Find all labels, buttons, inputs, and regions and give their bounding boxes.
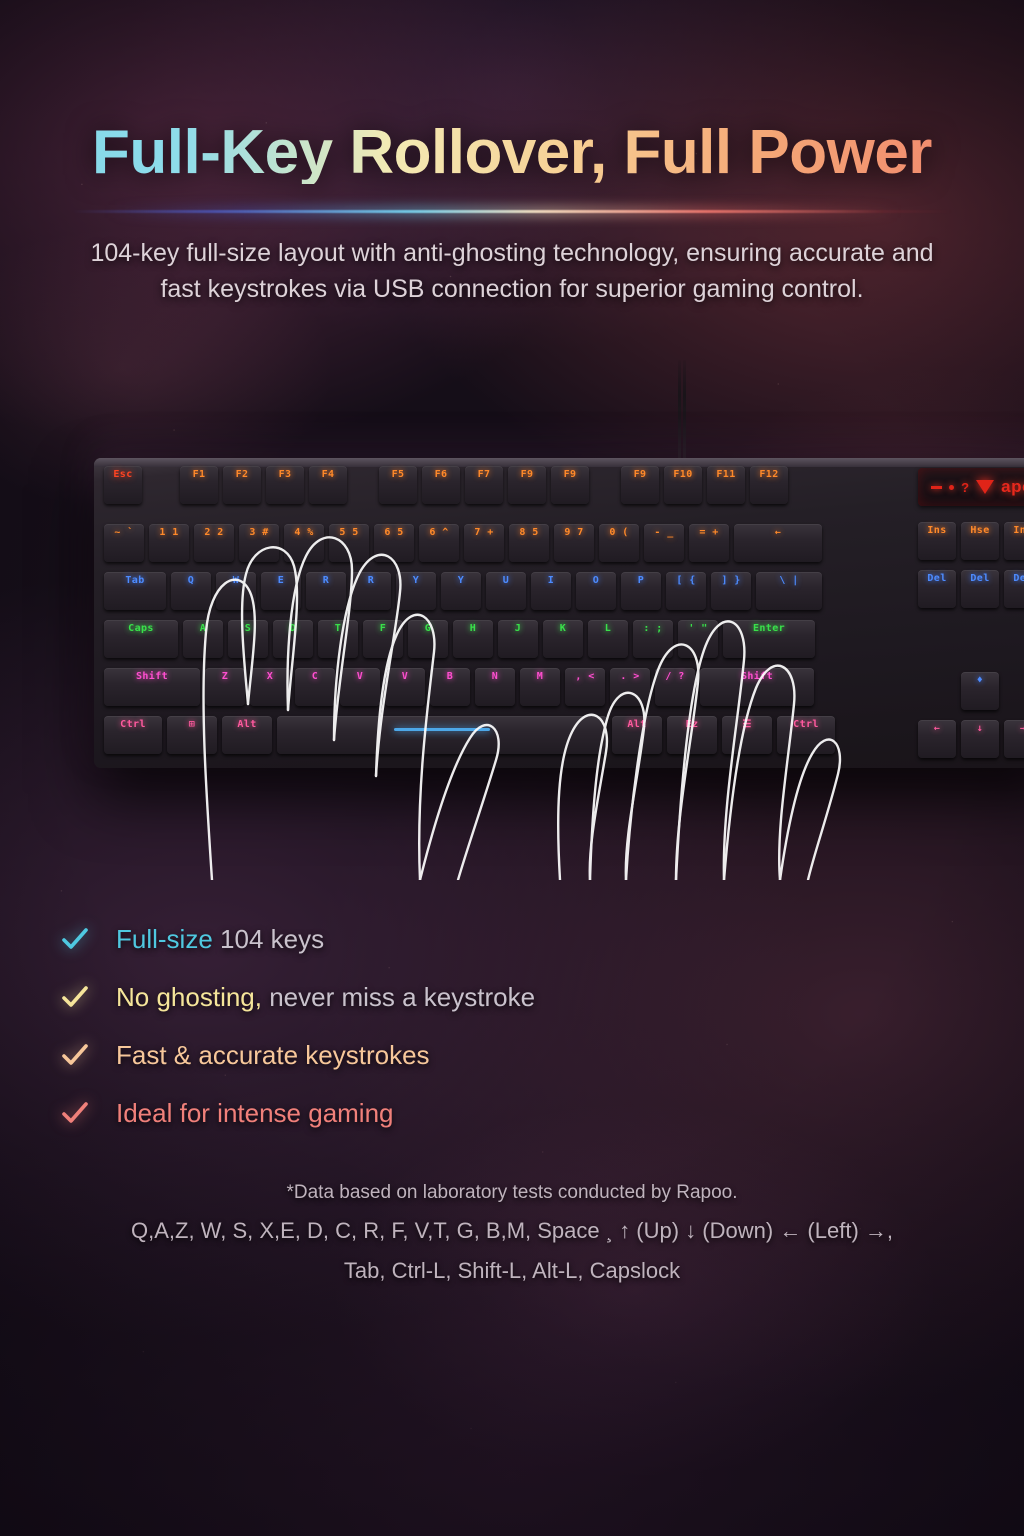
keyboard-key-c[interactable]: C — [295, 668, 335, 706]
key-label: , < — [575, 672, 594, 682]
keyboard-key-[interactable]: ← — [918, 720, 956, 758]
key-label: F7 — [478, 470, 491, 480]
key-label: 6 5 — [384, 528, 403, 538]
key-label: Del — [927, 574, 946, 584]
key-label: Z — [222, 672, 228, 682]
keyboard-key-2-2[interactable]: 2 2 — [194, 524, 234, 562]
key-label: Ctrl — [120, 720, 146, 730]
keyboard-key-f10[interactable]: F10 — [664, 466, 702, 504]
key-label: F2 — [236, 470, 249, 480]
keyboard-key-tab[interactable]: Tab — [104, 572, 166, 610]
keyboard-key-k[interactable]: K — [543, 620, 583, 658]
key-label: Ez — [686, 720, 699, 730]
key-label: K — [560, 624, 566, 634]
key-label: 7 + — [474, 528, 493, 538]
keyboard-key-y[interactable]: Y — [441, 572, 481, 610]
logo-dash-icon — [931, 486, 942, 489]
key-label: F10 — [673, 470, 692, 480]
key-label: ☰ — [742, 720, 751, 730]
key-label: [ { — [676, 576, 695, 586]
header-section: Full-Key Rollover, Full Power 104-key fu… — [0, 0, 1024, 308]
keyboard-home-row: CapsASDTFGHJKL: ;' "Enter — [104, 620, 1024, 666]
key-label: O — [593, 576, 599, 586]
key-label: A — [200, 624, 206, 634]
keyboard-key-f7[interactable]: F7 — [465, 466, 503, 504]
arrow-row-main: ←↓→ — [918, 720, 1024, 766]
keyboard-key-u[interactable]: U — [486, 572, 526, 610]
logo-glyph: ? — [961, 480, 969, 495]
feature-item: Ideal for intense gaming — [60, 1084, 820, 1142]
keyboard-key-o[interactable]: O — [576, 572, 616, 610]
keyboard-key-f2[interactable]: F2 — [223, 466, 261, 504]
keyboard-key-s[interactable]: S — [228, 620, 268, 658]
key-label: Ctrl — [793, 720, 819, 730]
keyboard-key-0[interactable]: 0 ( — [599, 524, 639, 562]
keyboard-key-l[interactable]: L — [588, 620, 628, 658]
keyboard-key-1-1[interactable]: 1 1 — [149, 524, 189, 562]
feature-label-emphasis: Full-size — [116, 924, 213, 954]
key-label: R — [323, 576, 329, 586]
keyboard-key-[interactable]: ' " — [678, 620, 718, 658]
footnote-line-1: *Data based on laboratory tests conducte… — [0, 1182, 1024, 1204]
check-icon — [60, 1040, 90, 1070]
keyboard-key-t[interactable]: T — [318, 620, 358, 658]
keyboard-key-[interactable]: ← — [734, 524, 822, 562]
keyboard-qwerty-row: TabQWERRYYUIOP[ {] }\ | — [104, 572, 1024, 618]
keyboard-key-f[interactable]: F — [363, 620, 403, 658]
key-label: F4 — [322, 470, 335, 480]
key-label: ⊞ — [189, 720, 195, 730]
key-label: V — [402, 672, 408, 682]
keyboard-key-6[interactable]: 6 ^ — [419, 524, 459, 562]
key-label: ~ ` — [114, 528, 133, 538]
key-label: F12 — [759, 470, 778, 480]
key-label: U — [503, 576, 509, 586]
key-label: 4 % — [294, 528, 313, 538]
keyboard-key-b[interactable]: B — [430, 668, 470, 706]
key-label: Shift — [136, 672, 168, 682]
footnote-line-2: Q,A,Z, W, S, X,E, D, C, R, F, V,T, G, B,… — [0, 1218, 1024, 1244]
keyboard-key-enter[interactable]: Enter — [723, 620, 815, 658]
keyboard-key-r[interactable]: R — [306, 572, 346, 610]
keyboard-key-caps[interactable]: Caps — [104, 620, 178, 658]
key-label: Hse — [970, 526, 989, 536]
keyboard-key-ins[interactable]: Ins — [918, 522, 956, 560]
keyboard-key-f1[interactable]: F1 — [180, 466, 218, 504]
keyboard-key-v[interactable]: V — [385, 668, 425, 706]
page-title: Full-Key Rollover, Full Power — [0, 122, 1024, 184]
key-label: T — [335, 624, 341, 634]
key-label: L — [605, 624, 611, 634]
page-subtitle: 104-key full-size layout with anti-ghost… — [72, 235, 952, 308]
keyboard-key-9-7[interactable]: 9 7 — [554, 524, 594, 562]
keyboard-key-[interactable]: ~ ` — [104, 524, 144, 562]
key-label: M — [537, 672, 543, 682]
key-label: S — [245, 624, 251, 634]
key-label: . > — [620, 672, 639, 682]
key-label: F1 — [193, 470, 206, 480]
key-label: 5 5 — [339, 528, 358, 538]
keyboard-key-r[interactable]: R — [351, 572, 391, 610]
key-label: ← — [934, 724, 940, 734]
key-label: P — [638, 576, 644, 586]
key-label: F — [380, 624, 386, 634]
keyboard-key-g[interactable]: G — [408, 620, 448, 658]
key-label: Del — [1013, 574, 1024, 584]
keyboard-key-alt[interactable]: Alt — [612, 716, 662, 754]
key-label: Y — [458, 576, 464, 586]
key-label: Del — [970, 574, 989, 584]
key-label: Y — [413, 576, 419, 586]
keyboard-key-n[interactable]: N — [475, 668, 515, 706]
keyboard-key-x[interactable]: X — [250, 668, 290, 706]
key-label: I — [548, 576, 554, 586]
nav-row-insert: InsHseIns — [918, 522, 1024, 568]
glow-divider — [72, 210, 952, 213]
keyboard-key-7[interactable]: 7 + — [464, 524, 504, 562]
keyboard-key-[interactable]: [ { — [666, 572, 706, 610]
keyboard-key-f4[interactable]: F4 — [309, 466, 347, 504]
keyboard-key-alt[interactable]: Alt — [222, 716, 272, 754]
key-label: F6 — [435, 470, 448, 480]
keyboard-bottom-row: Ctrl⊞AltAltEz☰Ctrl — [104, 716, 1024, 762]
keyboard-section: EscF1F2F3F4F5F6F7F9F9F9F10F11F12 ~ `1 12… — [0, 360, 1024, 880]
keyboard-key-f11[interactable]: F11 — [707, 466, 745, 504]
navigation-cluster: InsHseIns DelDelDel — [918, 522, 1024, 618]
key-label: N — [492, 672, 498, 682]
key-label: 9 7 — [564, 528, 583, 538]
check-icon — [60, 924, 90, 954]
keyboard-key-d[interactable]: D — [273, 620, 313, 658]
keyboard-key-shift[interactable]: Shift — [700, 668, 814, 706]
key-label: ] } — [721, 576, 740, 586]
keyboard-key-f9[interactable]: F9 — [621, 466, 659, 504]
footnote-line-3: Tab, Ctrl-L, Shift-L, Alt-L, Capslock — [0, 1258, 1024, 1284]
feature-item: Full-size 104 keys — [60, 910, 820, 968]
keyboard-key-q[interactable]: Q — [171, 572, 211, 610]
keyboard-key-y[interactable]: Y — [396, 572, 436, 610]
brand-logo-panel: ? apo — [918, 468, 1024, 506]
key-label: 0 ( — [609, 528, 628, 538]
key-label: 8 5 — [519, 528, 538, 538]
keyboard-key-f6[interactable]: F6 — [422, 466, 460, 504]
keyboard-key-ins[interactable]: Ins — [1004, 522, 1024, 560]
keyboard-key-5-5[interactable]: 5 5 — [329, 524, 369, 562]
keyboard-key-ctrl[interactable]: Ctrl — [777, 716, 835, 754]
spacebar-indicator-line — [394, 728, 490, 731]
keyboard-key-m[interactable]: M — [520, 668, 560, 706]
key-label: = + — [699, 528, 718, 538]
key-label: F9 — [521, 470, 534, 480]
key-label: Alt — [237, 720, 256, 730]
key-backlight-glow — [274, 713, 610, 760]
key-label: 2 2 — [204, 528, 223, 538]
keyboard-key-[interactable]: ☰ — [722, 716, 772, 754]
keyboard-key-w[interactable]: W — [216, 572, 256, 610]
keyboard-key-del[interactable]: Del — [918, 570, 956, 608]
feature-label-emphasis: No ghosting, — [116, 982, 262, 1012]
keyboard-key-h[interactable]: H — [453, 620, 493, 658]
key-label: : ; — [643, 624, 662, 634]
keyboard-key-f5[interactable]: F5 — [379, 466, 417, 504]
keyboard-key-[interactable]: - _ — [644, 524, 684, 562]
key-label: ← — [775, 528, 781, 538]
key-label: 1 1 — [159, 528, 178, 538]
feature-label: Fast & accurate keystrokes — [116, 1040, 430, 1071]
key-label: / ? — [665, 672, 684, 682]
keyboard-key-j[interactable]: J — [498, 620, 538, 658]
keyboard-key-[interactable]: ⊞ — [167, 716, 217, 754]
keyboard-key-[interactable]: ♦ — [961, 672, 999, 710]
keyboard-key-[interactable]: . > — [610, 668, 650, 706]
usb-cable — [676, 360, 690, 460]
keyboard-key-space[interactable] — [277, 716, 607, 754]
keyboard-number-row: ~ `1 12 23 #4 %5 56 56 ^7 +8 59 70 (- _=… — [104, 524, 1024, 570]
keyboard-key-4[interactable]: 4 % — [284, 524, 324, 562]
logo-dot-icon — [949, 485, 954, 490]
keyboard-key-[interactable]: / ? — [655, 668, 695, 706]
keyboard-key-[interactable]: → — [1004, 720, 1024, 758]
keyboard-key-f3[interactable]: F3 — [266, 466, 304, 504]
key-label: Enter — [753, 624, 785, 634]
keyboard-shift-row: ShiftZXCVVBNM, <. >/ ?Shift — [104, 668, 1024, 714]
key-label: D — [290, 624, 296, 634]
key-label: R — [368, 576, 374, 586]
key-label: 3 # — [249, 528, 268, 538]
key-label: Q — [188, 576, 194, 586]
feature-label: No ghosting, never miss a keystroke — [116, 982, 535, 1013]
key-label: Shift — [741, 672, 773, 682]
keyboard-key-del[interactable]: Del — [961, 570, 999, 608]
arrow-cluster: ♦ ←↓→ — [918, 672, 1024, 768]
keyboard-key-esc[interactable]: Esc — [104, 466, 142, 504]
keyboard-key-[interactable]: , < — [565, 668, 605, 706]
keyboard-key-hse[interactable]: Hse — [961, 522, 999, 560]
keyboard-key-a[interactable]: A — [183, 620, 223, 658]
keyboard-key-ctrl[interactable]: Ctrl — [104, 716, 162, 754]
mechanical-keyboard: EscF1F2F3F4F5F6F7F9F9F9F10F11F12 ~ `1 12… — [94, 458, 1024, 768]
key-label: Tab — [125, 576, 144, 586]
keyboard-key-shift[interactable]: Shift — [104, 668, 200, 706]
key-label: C — [312, 672, 318, 682]
nav-row-delete: DelDelDel — [918, 570, 1024, 616]
feature-label: Full-size 104 keys — [116, 924, 324, 955]
key-label: F9 — [564, 470, 577, 480]
key-label: E — [278, 576, 284, 586]
key-label: F9 — [634, 470, 647, 480]
key-label: J — [515, 624, 521, 634]
keyboard-key-f9[interactable]: F9 — [508, 466, 546, 504]
check-icon — [60, 1098, 90, 1128]
keyboard-key-6-5[interactable]: 6 5 — [374, 524, 414, 562]
feature-item: No ghosting, never miss a keystroke — [60, 968, 820, 1026]
key-label: → — [1020, 724, 1024, 734]
keyboard-key-[interactable]: ] } — [711, 572, 751, 610]
key-label: \ | — [779, 576, 798, 586]
keyboard-key-[interactable]: ↓ — [961, 720, 999, 758]
keyboard-key-[interactable]: = + — [689, 524, 729, 562]
keyboard-key-ez[interactable]: Ez — [667, 716, 717, 754]
keyboard-key-[interactable]: : ; — [633, 620, 673, 658]
key-label: Ins — [927, 526, 946, 536]
key-label: X — [267, 672, 273, 682]
keyboard-key-del[interactable]: Del — [1004, 570, 1024, 608]
keyboard-key-p[interactable]: P — [621, 572, 661, 610]
keyboard-key-e[interactable]: E — [261, 572, 301, 610]
feature-item: Fast & accurate keystrokes — [60, 1026, 820, 1084]
key-label: F3 — [279, 470, 292, 480]
key-label: ♦ — [977, 676, 983, 686]
key-label: G — [425, 624, 431, 634]
key-label: V — [357, 672, 363, 682]
key-label: F5 — [392, 470, 405, 480]
keyboard-key-3[interactable]: 3 # — [239, 524, 279, 562]
key-label: Ins — [1013, 526, 1024, 536]
logo-triangle-icon — [976, 480, 994, 494]
feature-list: Full-size 104 keysNo ghosting, never mis… — [60, 910, 820, 1142]
keyboard-function-row: EscF1F2F3F4F5F6F7F9F9F9F10F11F12 — [104, 466, 1024, 510]
keyboard-key-v[interactable]: V — [340, 668, 380, 706]
key-label: - _ — [654, 528, 673, 538]
key-label: F11 — [716, 470, 735, 480]
keyboard-key-f9[interactable]: F9 — [551, 466, 589, 504]
key-label: W — [233, 576, 239, 586]
keyboard-key-f12[interactable]: F12 — [750, 466, 788, 504]
feature-label: Ideal for intense gaming — [116, 1098, 394, 1129]
key-label: 6 ^ — [429, 528, 448, 538]
logo-wordmark: apo — [1001, 477, 1024, 497]
keyboard-key-8-5[interactable]: 8 5 — [509, 524, 549, 562]
key-label: B — [447, 672, 453, 682]
key-label: ' " — [688, 624, 707, 634]
key-label: Alt — [627, 720, 646, 730]
check-icon — [60, 982, 90, 1012]
keyboard-key-[interactable]: \ | — [756, 572, 822, 610]
key-label: Esc — [113, 470, 132, 480]
footnote-section: *Data based on laboratory tests conducte… — [0, 1182, 1024, 1284]
keyboard-key-z[interactable]: Z — [205, 668, 245, 706]
key-label: Caps — [128, 624, 154, 634]
keyboard-key-i[interactable]: I — [531, 572, 571, 610]
arrow-row-up: ♦ — [918, 672, 1024, 718]
key-label: ↓ — [977, 724, 983, 734]
key-label: H — [470, 624, 476, 634]
